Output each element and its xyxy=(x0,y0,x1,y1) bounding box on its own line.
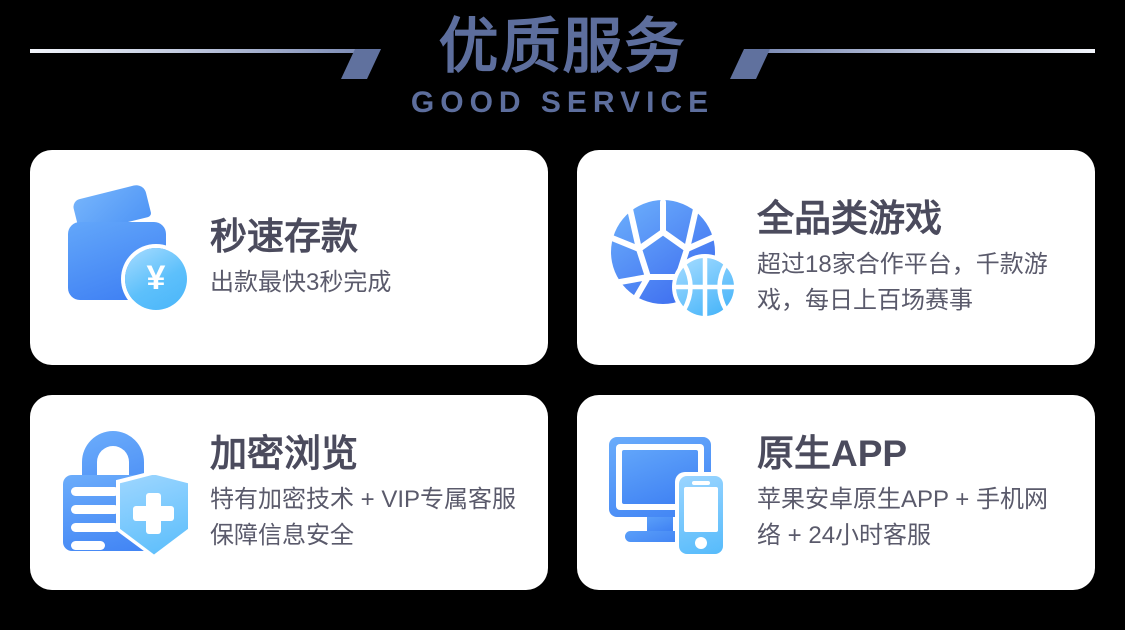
card-title: 原生APP xyxy=(757,432,1069,476)
shield-cross-icon xyxy=(133,506,174,521)
monitor-phone-icon xyxy=(607,427,739,559)
card-text-block: 全品类游戏 超过18家合作平台，千款游戏，每日上百场赛事 xyxy=(757,197,1069,319)
card-description: 苹果安卓原生APP + 手机网络 + 24小时客服 xyxy=(757,482,1069,554)
card-text-block: 秒速存款 出款最快3秒完成 xyxy=(210,215,522,301)
yen-coin-icon: ¥ xyxy=(125,248,187,310)
phone-speaker-icon xyxy=(692,481,710,485)
soccer-basketball-svg xyxy=(607,194,739,322)
right-gradient-rule-icon xyxy=(765,49,1095,53)
feature-card-instant-deposit[interactable]: ¥ 秒速存款 出款最快3秒完成 xyxy=(30,150,548,365)
ball-graphic xyxy=(607,194,739,327)
page-header: 优质服务 GOOD SERVICE xyxy=(0,0,1125,140)
lock-slot xyxy=(71,487,119,496)
card-description: 出款最快3秒完成 xyxy=(210,265,522,301)
feature-card-grid: ¥ 秒速存款 出款最快3秒完成 xyxy=(30,150,1095,590)
card-title: 秒速存款 xyxy=(210,215,522,259)
card-text-block: 原生APP 苹果安卓原生APP + 手机网络 + 24小时客服 xyxy=(757,432,1069,554)
left-slant-accent-icon xyxy=(341,49,381,79)
wallet-yen-coin-icon: ¥ xyxy=(60,192,192,324)
yen-symbol: ¥ xyxy=(147,261,166,295)
phone-screen-icon xyxy=(684,487,718,532)
page-title: 优质服务 xyxy=(439,14,687,80)
card-description: 超过18家合作平台，千款游戏，每日上百场赛事 xyxy=(757,247,1069,319)
lock-slot xyxy=(71,523,119,532)
card-title: 加密浏览 xyxy=(210,432,522,476)
card-description: 特有加密技术 + VIP专属客服保障信息安全 xyxy=(210,482,522,554)
lock-slot xyxy=(71,541,105,550)
page-subtitle: GOOD SERVICE xyxy=(411,86,714,120)
feature-card-all-category-games[interactable]: 全品类游戏 超过18家合作平台，千款游戏，每日上百场赛事 xyxy=(577,150,1095,365)
feature-card-native-app[interactable]: 原生APP 苹果安卓原生APP + 手机网络 + 24小时客服 xyxy=(577,395,1095,590)
card-text-block: 加密浏览 特有加密技术 + VIP专属客服保障信息安全 xyxy=(210,432,522,554)
card-title: 全品类游戏 xyxy=(757,197,1069,241)
lock-slot xyxy=(71,505,119,514)
soccer-basketball-icon xyxy=(607,192,739,324)
lock-shield-icon xyxy=(60,427,192,559)
right-slant-accent-icon xyxy=(730,49,770,79)
phone-home-button-icon xyxy=(695,537,707,549)
feature-card-encrypted-browsing[interactable]: 加密浏览 特有加密技术 + VIP专属客服保障信息安全 xyxy=(30,395,548,590)
left-gradient-rule-icon xyxy=(30,49,360,53)
